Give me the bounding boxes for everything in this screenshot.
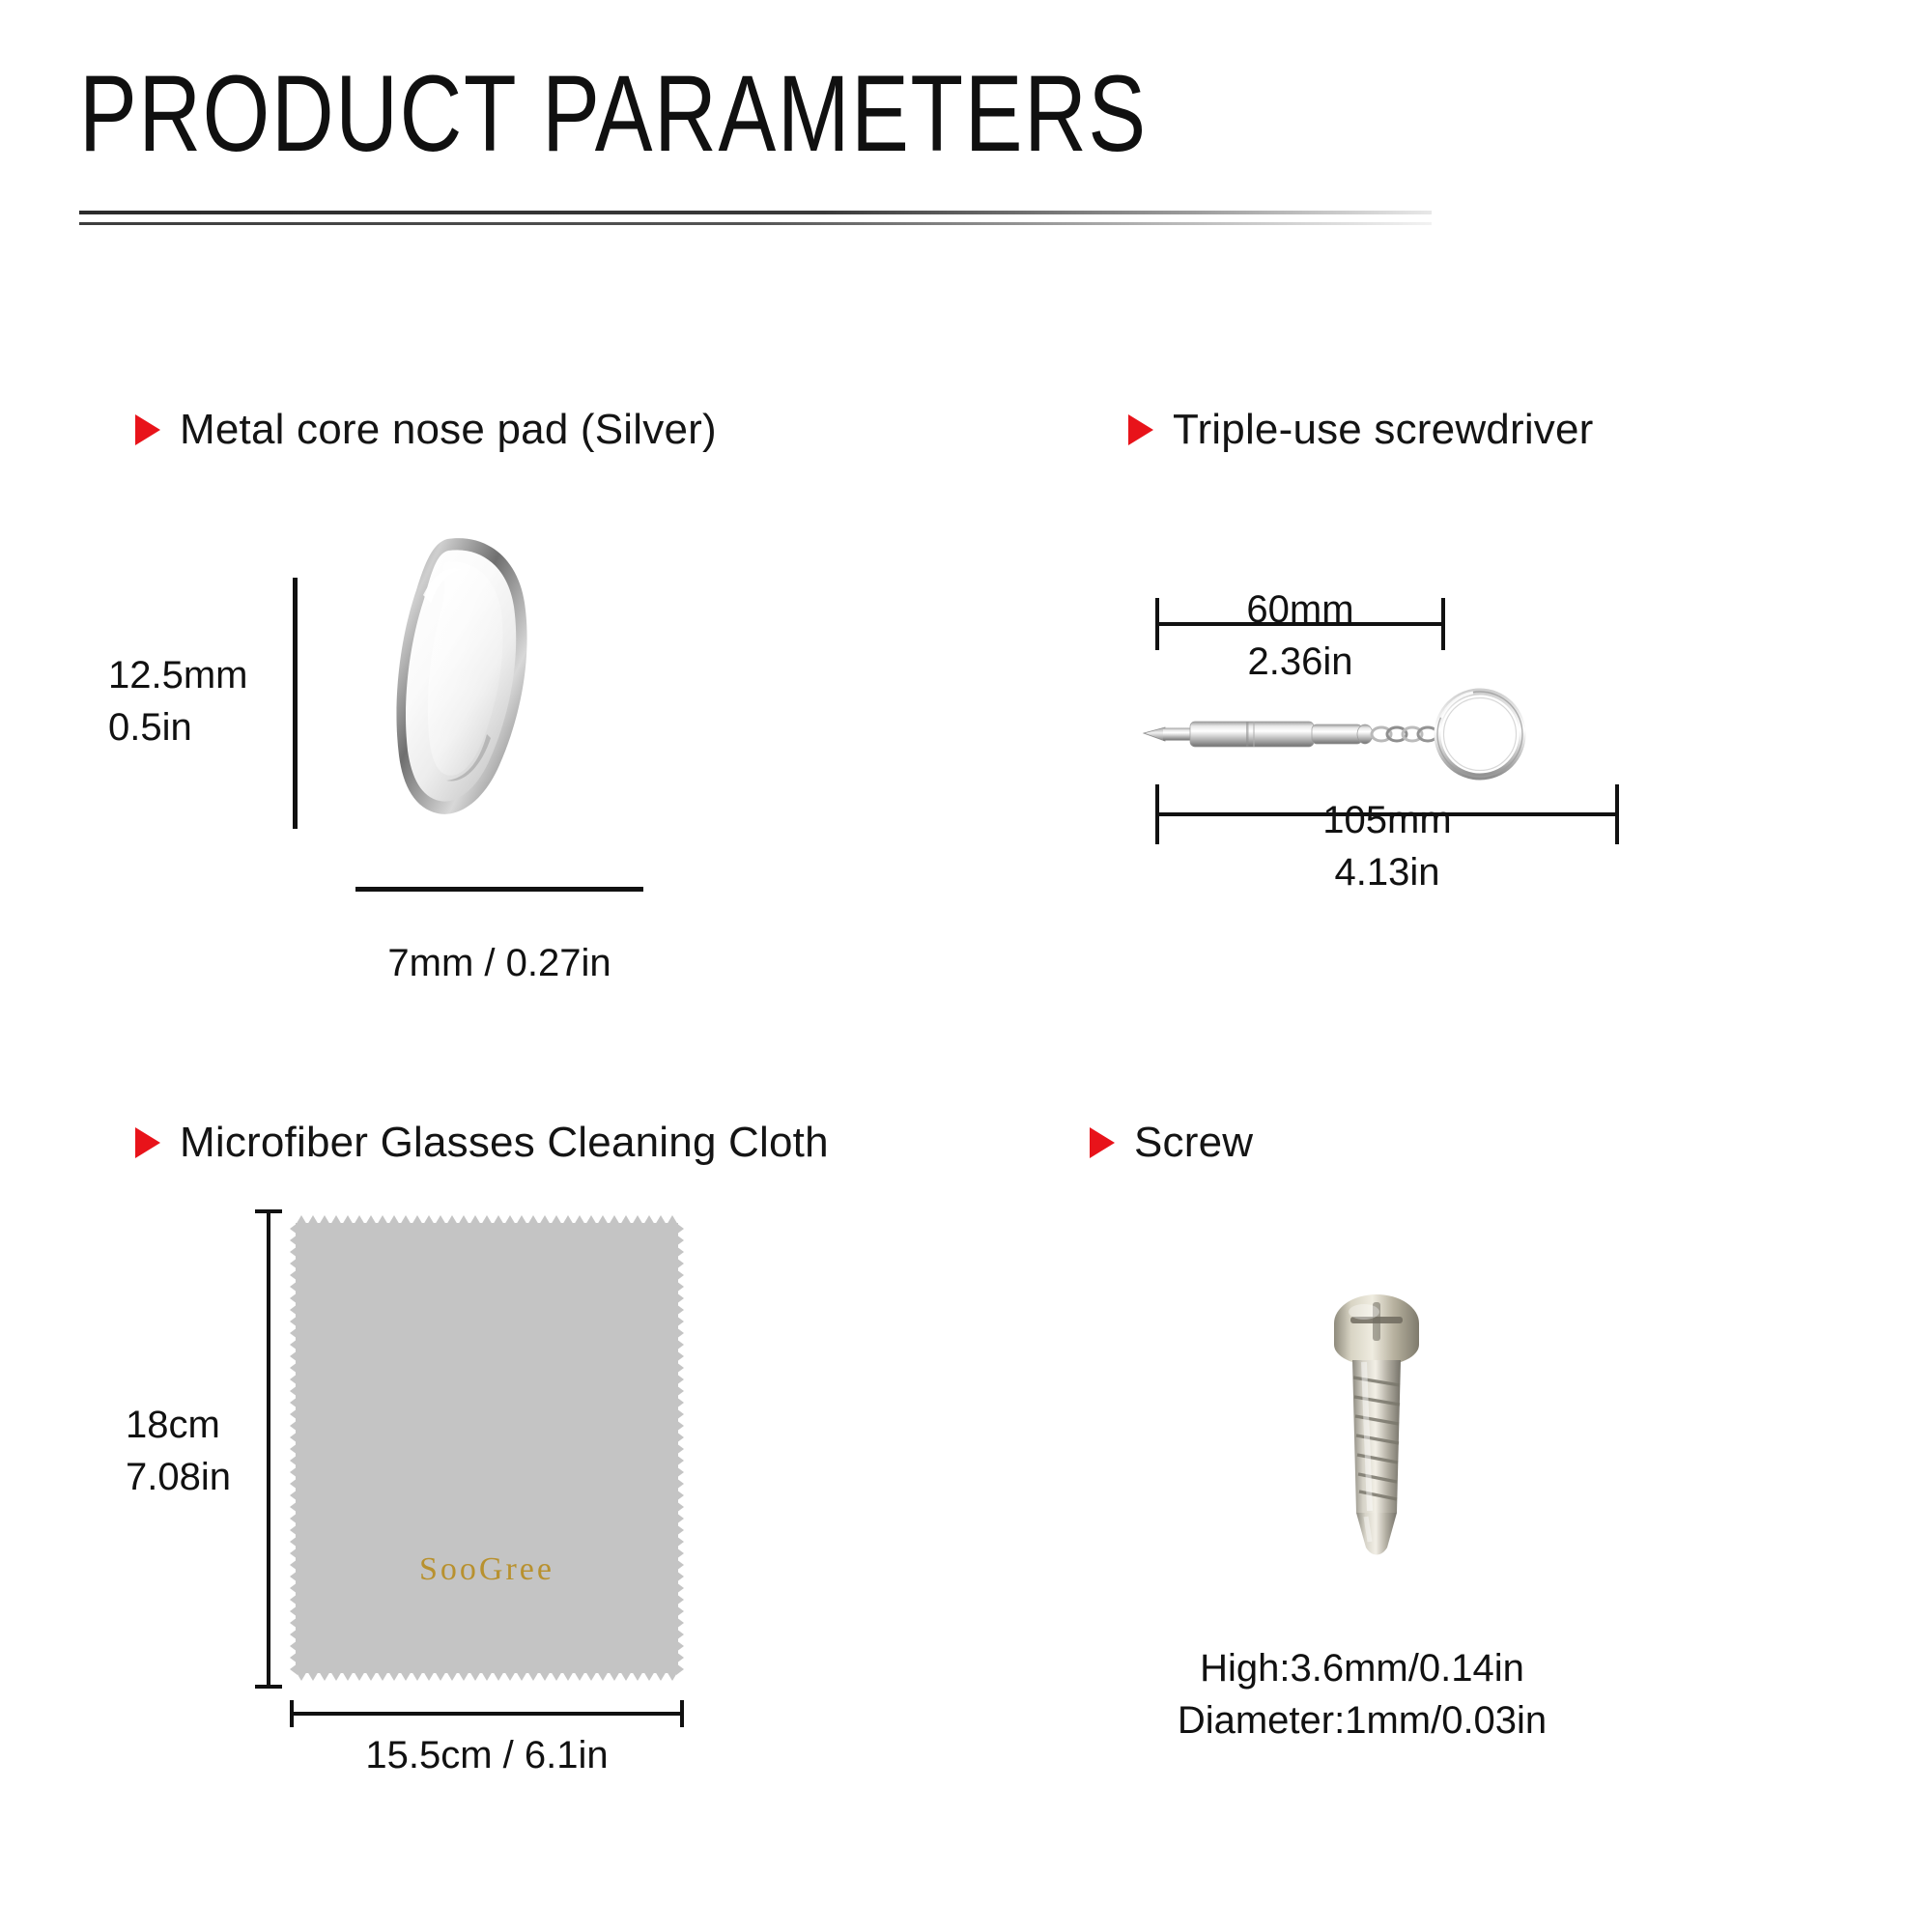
nose-pad-height-in: 0.5in [108, 701, 248, 753]
section-heading-cleaning-cloth: Microfiber Glasses Cleaning Cloth [135, 1119, 829, 1167]
triangle-right-icon [135, 414, 160, 445]
nose-pad-width-label: 7mm / 0.27in [355, 937, 643, 989]
cloth-height-in: 7.08in [126, 1451, 231, 1503]
screwdriver-total-mm: 105mm [1155, 794, 1619, 846]
section-label-cleaning-cloth: Microfiber Glasses Cleaning Cloth [180, 1119, 829, 1167]
title-divider-line-top [79, 211, 1432, 214]
title-divider-line-bottom [79, 222, 1432, 225]
nose-pad-height-label: 12.5mm 0.5in [108, 649, 248, 753]
screw-high: High:3.6mm/0.14in [1111, 1642, 1613, 1694]
cloth-width-label: 15.5cm / 6.1in [290, 1729, 684, 1781]
cloth-width-line [290, 1712, 684, 1716]
title-divider [79, 211, 1432, 225]
nose-pad-icon [386, 535, 541, 823]
triangle-right-icon [1090, 1127, 1115, 1158]
screw-specs-label: High:3.6mm/0.14in Diameter:1mm/0.03in [1111, 1642, 1613, 1747]
cloth-width-cap-left [290, 1700, 294, 1727]
screwdriver-total-label: 105mm 4.13in [1155, 794, 1619, 898]
microfiber-cloth-icon: SooGree [290, 1215, 684, 1681]
section-label-nose-pad: Metal core nose pad (Silver) [180, 406, 717, 454]
screwdriver-keyring-icon [1140, 681, 1623, 792]
page-title: PRODUCT PARAMETERS [79, 60, 1192, 168]
nose-pad-width-line [355, 887, 643, 892]
screw-diameter: Diameter:1mm/0.03in [1111, 1694, 1613, 1747]
cloth-height-cap-top [255, 1209, 282, 1213]
nose-pad-height-line [293, 578, 298, 829]
screwdriver-barrel-in: 2.36in [1155, 636, 1445, 688]
section-heading-screwdriver: Triple-use screwdriver [1128, 406, 1594, 454]
section-heading-screw: Screw [1090, 1119, 1253, 1167]
product-parameters-page: PRODUCT PARAMETERS Metal core nose pad (… [0, 0, 1932, 1932]
cloth-height-cap-bottom [255, 1685, 282, 1689]
screwdriver-total-in: 4.13in [1155, 846, 1619, 898]
nose-pad-height-mm: 12.5mm [108, 649, 248, 701]
cloth-height-line [267, 1209, 270, 1689]
section-label-screw: Screw [1134, 1119, 1253, 1167]
screwdriver-barrel-mm: 60mm [1155, 583, 1445, 636]
triangle-right-icon [1128, 414, 1153, 445]
screwdriver-barrel-label: 60mm 2.36in [1155, 583, 1445, 688]
triangle-right-icon [135, 1127, 160, 1158]
screw-icon [1314, 1285, 1439, 1565]
cloth-width-cap-right [680, 1700, 684, 1727]
cloth-height-cm: 18cm [126, 1399, 231, 1451]
page-title-block: PRODUCT PARAMETERS [79, 60, 1470, 168]
cloth-brand-label: SooGree [290, 1551, 684, 1588]
section-label-screwdriver: Triple-use screwdriver [1173, 406, 1594, 454]
section-heading-nose-pad: Metal core nose pad (Silver) [135, 406, 717, 454]
cloth-height-label: 18cm 7.08in [126, 1399, 231, 1503]
